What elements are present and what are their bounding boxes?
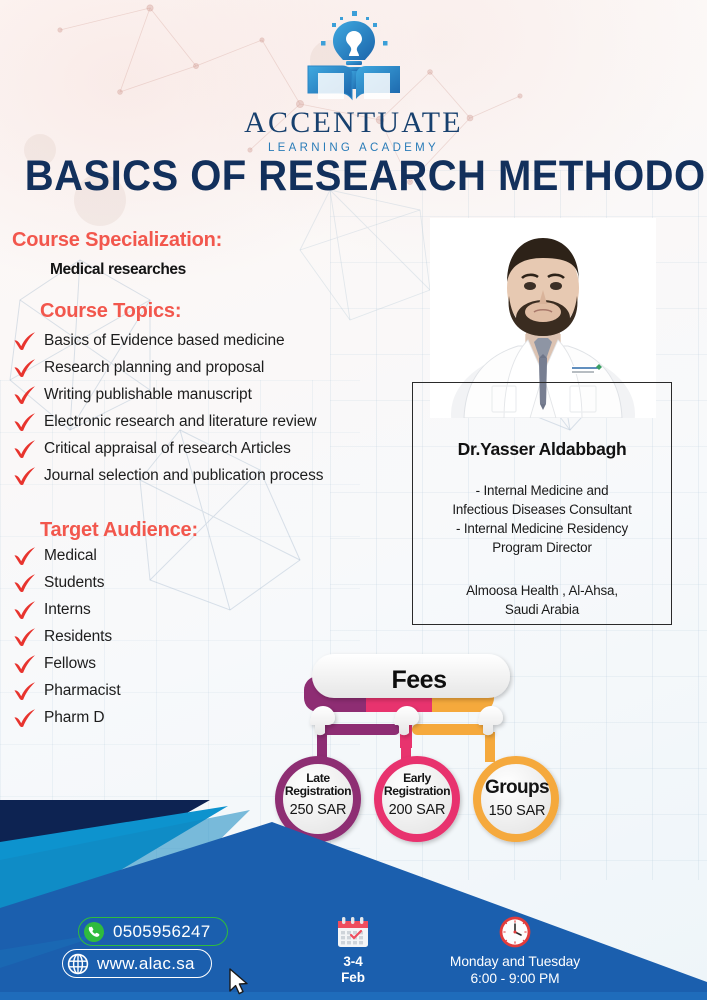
check-icon	[12, 546, 38, 566]
phone-pill[interactable]: 0505956247	[78, 917, 228, 946]
phone-number: 0505956247	[113, 922, 211, 942]
check-icon	[12, 412, 38, 432]
topic-item-label: Research planning and proposal	[44, 359, 264, 377]
event-time-block: Monday and Tuesday6:00 - 9:00 PM	[400, 915, 630, 988]
audience-list: MedicalStudentsInternsResidentsFellowsPh…	[12, 542, 262, 731]
audience-item: Pharm D	[12, 704, 262, 731]
audience-item-label: Medical	[44, 547, 97, 565]
event-date-block: 3-4Feb	[312, 915, 394, 987]
audience-item-label: Fellows	[44, 655, 96, 673]
audience-item-label: Pharm D	[44, 709, 104, 727]
website-url: www.alac.sa	[97, 954, 195, 974]
poster-root: ACCENTUATE LEARNING ACADEMY BASICS OF RE…	[0, 0, 707, 1000]
audience-item: Interns	[12, 596, 262, 623]
topic-item-label: Critical appraisal of research Articles	[44, 440, 291, 458]
specialization-value: Medical researches	[50, 261, 186, 279]
audience-item-label: Residents	[44, 628, 112, 646]
phone-icon	[83, 921, 105, 943]
event-days-time: Monday and Tuesday6:00 - 9:00 PM	[400, 954, 630, 988]
calendar-icon	[312, 915, 394, 949]
topic-item: Writing publishable manuscript	[12, 381, 412, 408]
check-icon	[12, 600, 38, 620]
topics-heading: Course Topics:	[40, 300, 181, 323]
audience-item: Students	[12, 569, 262, 596]
audience-item: Residents	[12, 623, 262, 650]
check-icon	[12, 358, 38, 378]
globe-icon	[67, 953, 89, 975]
speaker-name: Dr.Yasser Aldabbagh	[412, 439, 672, 460]
topic-item: Basics of Evidence based medicine	[12, 327, 412, 354]
website-pill[interactable]: www.alac.sa	[62, 949, 212, 978]
topic-item-label: Basics of Evidence based medicine	[44, 332, 285, 350]
topic-item-label: Journal selection and publication proces…	[44, 467, 323, 485]
page-title: BASICS OF RESEARCH METHODOLOGY	[25, 152, 683, 201]
topic-item: Journal selection and publication proces…	[12, 462, 412, 489]
check-icon	[12, 654, 38, 674]
brand-name: ACCENTUATE	[244, 108, 463, 138]
speaker-organization: Almoosa Health , Al-Ahsa,Saudi Arabia	[420, 581, 664, 619]
audience-heading: Target Audience:	[40, 519, 198, 542]
topic-item: Electronic research and literature revie…	[12, 408, 412, 435]
audience-item-label: Students	[44, 574, 104, 592]
lightbulb-book-icon	[294, 10, 414, 106]
check-icon	[12, 627, 38, 647]
topic-item: Research planning and proposal	[12, 354, 412, 381]
clock-icon	[400, 915, 630, 949]
speaker-bio: - Internal Medicine andInfectious Diseas…	[420, 481, 664, 557]
brand-logo: ACCENTUATE LEARNING ACADEMY	[0, 10, 707, 154]
topics-list: Basics of Evidence based medicineResearc…	[12, 327, 412, 489]
audience-item: Pharmacist	[12, 677, 262, 704]
check-icon	[12, 466, 38, 486]
audience-item-label: Interns	[44, 601, 91, 619]
event-date: 3-4Feb	[312, 954, 394, 987]
topic-item: Critical appraisal of research Articles	[12, 435, 412, 462]
check-icon	[12, 573, 38, 593]
check-icon	[12, 385, 38, 405]
mouse-cursor-icon	[228, 968, 250, 996]
audience-item-label: Pharmacist	[44, 682, 121, 700]
check-icon	[12, 331, 38, 351]
specialization-heading: Course Specialization:	[12, 229, 222, 252]
audience-item: Medical	[12, 542, 262, 569]
check-icon	[12, 708, 38, 728]
topic-item-label: Writing publishable manuscript	[44, 386, 252, 404]
check-icon	[12, 439, 38, 459]
topic-item-label: Electronic research and literature revie…	[44, 413, 316, 431]
check-icon	[12, 681, 38, 701]
audience-item: Fellows	[12, 650, 262, 677]
